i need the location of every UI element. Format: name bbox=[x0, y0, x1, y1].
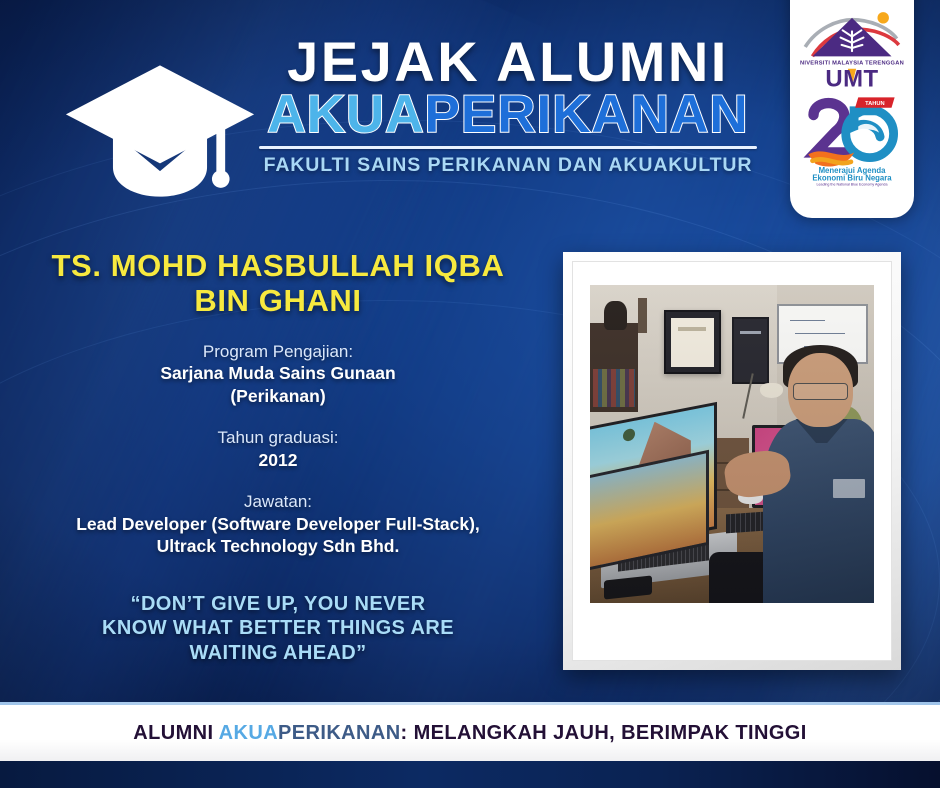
footer-perikanan: PERIKANAN bbox=[278, 722, 401, 744]
footer-alumni: ALUMNI bbox=[133, 722, 218, 744]
footer-bottom-bar bbox=[0, 761, 940, 788]
program-value-line2: (Perikanan) bbox=[14, 385, 542, 407]
alumnus-quote: “DON’T GIVE UP, YOU NEVER KNOW WHAT BETT… bbox=[0, 592, 556, 665]
logo-panel: UNIVERSITI MALAYSIA TERENGGANU UMT TAHUN… bbox=[790, 0, 914, 218]
svg-text:UMT: UMT bbox=[825, 65, 878, 90]
program-label: Program Pengajian: bbox=[14, 341, 542, 363]
footer-tagline: ALUMNI AKUAPERIKANAN: MELANGKAH JAUH, BE… bbox=[133, 722, 806, 745]
svg-text:TAHUN: TAHUN bbox=[865, 101, 885, 107]
quote-line1: “DON’T GIVE UP, YOU NEVER bbox=[56, 592, 500, 616]
alumnus-name: TS. MOHD HASBULLAH IQBA BIN GHANI bbox=[0, 248, 556, 319]
photo-tone-overlay bbox=[590, 285, 874, 603]
graduation-label: Tahun graduasi: bbox=[14, 427, 542, 449]
svg-text:Ekonomi Biru Negara: Ekonomi Biru Negara bbox=[812, 174, 892, 183]
quote-line2: KNOW WHAT BETTER THINGS ARE bbox=[56, 616, 500, 640]
graduation-cap-icon bbox=[62, 56, 258, 206]
footer-banner: ALUMNI AKUAPERIKANAN: MELANGKAH JAUH, BE… bbox=[0, 705, 940, 761]
poster-subtitle: AKUAPERIKANAN bbox=[248, 88, 768, 142]
alumni-poster: UNIVERSITI MALAYSIA TERENGGANU UMT TAHUN… bbox=[0, 0, 940, 788]
subtitle-perikanan: PERIKANAN bbox=[425, 85, 749, 144]
subtitle-akua: AKUA bbox=[267, 85, 424, 144]
position-field: Jawatan: Lead Developer (Software Develo… bbox=[0, 491, 556, 558]
poster-header: JEJAK ALUMNI AKUAPERIKANAN FAKULTI SAINS… bbox=[0, 28, 790, 228]
photo-mat: ♛ bbox=[572, 261, 892, 661]
poster-title: JEJAK ALUMNI bbox=[248, 34, 768, 90]
alumnus-photo: ♛ bbox=[590, 285, 874, 603]
position-value-line1: Lead Developer (Software Developer Full-… bbox=[14, 513, 542, 535]
umt-logo: UNIVERSITI MALAYSIA TERENGGANU UMT bbox=[800, 6, 904, 90]
title-divider bbox=[259, 146, 757, 149]
alumnus-name-line1: TS. MOHD HASBULLAH IQBA bbox=[26, 248, 530, 283]
alumnus-name-line2: BIN GHANI bbox=[26, 283, 530, 318]
photo-frame: ♛ bbox=[563, 252, 901, 670]
position-label: Jawatan: bbox=[14, 491, 542, 513]
program-value-line1: Sarjana Muda Sains Gunaan bbox=[14, 362, 542, 384]
svg-text:Leading the National Blue Econ: Leading the National Blue Economy Agenda bbox=[817, 183, 889, 187]
footer-slogan: : MELANGKAH JAUH, BERIMPAK TINGGI bbox=[401, 722, 807, 744]
quote-line3: WAITING AHEAD” bbox=[56, 641, 500, 665]
program-field: Program Pengajian: Sarjana Muda Sains Gu… bbox=[0, 341, 556, 408]
header-titles: JEJAK ALUMNI AKUAPERIKANAN FAKULTI SAINS… bbox=[248, 34, 768, 177]
position-value-line2: Ultrack Technology Sdn Bhd. bbox=[14, 535, 542, 557]
graduation-value: 2012 bbox=[14, 449, 542, 471]
umt-25th-anniversary-logo: TAHUN Menerajui Agenda Ekonomi Biru Nega… bbox=[800, 94, 904, 188]
faculty-name: FAKULTI SAINS PERIKANAN DAN AKUAKULTUR bbox=[248, 154, 768, 177]
profile-details: TS. MOHD HASBULLAH IQBA BIN GHANI Progra… bbox=[0, 248, 556, 665]
graduation-field: Tahun graduasi: 2012 bbox=[0, 427, 556, 471]
footer-akua: AKUA bbox=[219, 722, 278, 744]
